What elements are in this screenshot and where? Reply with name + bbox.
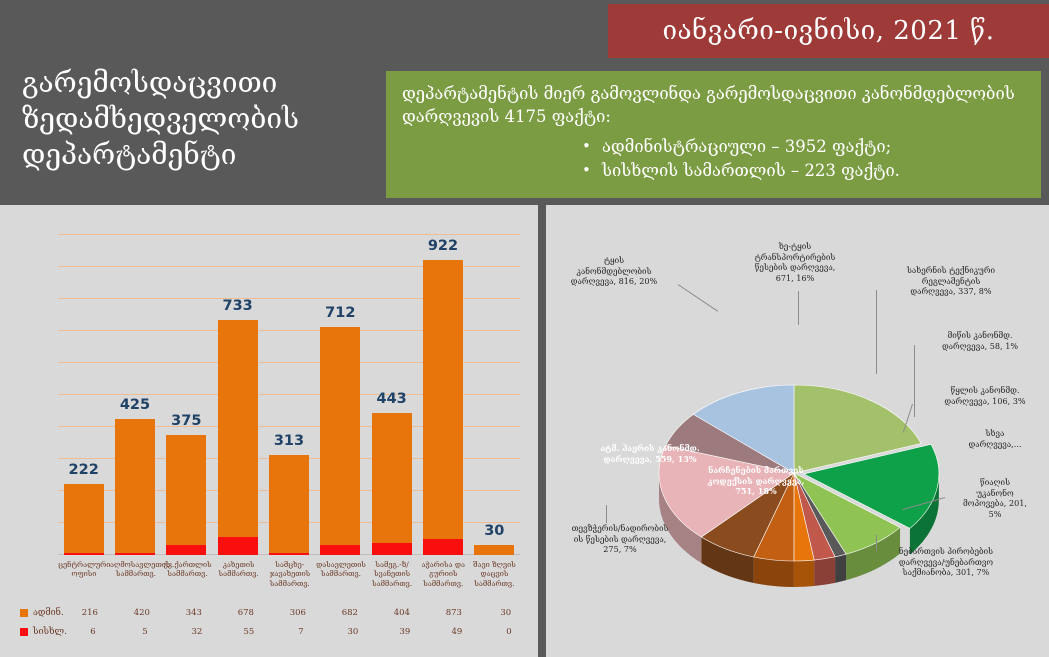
bar-segment-criminal[interactable] — [269, 553, 309, 555]
legend-value-cell: 678 — [220, 608, 272, 618]
pie-label-technical: სახერნის ტექნიკური რეგლამენტის დარღვევა,… — [876, 265, 1026, 297]
bar-segment-criminal[interactable] — [64, 553, 104, 555]
bar-total-label: 313 — [274, 433, 304, 449]
bar-column[interactable]: 375 — [166, 235, 206, 555]
legend-value-cell: 30 — [480, 608, 532, 618]
summary-bullet-administrative: ადმინისტრაციული – 3952 ფაქტი; — [402, 135, 1025, 160]
pie-slice-side — [754, 557, 794, 587]
summary-bullet-criminal: სისხლის სამართლის – 223 ფაქტი. — [402, 159, 1025, 184]
legend-value-cell: 420 — [116, 608, 168, 618]
legend-value-cell: 682 — [324, 608, 376, 618]
legend-row-criminal: სისხლ. 65325573039490 — [8, 622, 522, 641]
bar-segment-admin[interactable] — [218, 320, 258, 537]
bar-column[interactable]: 30 — [474, 235, 514, 555]
pie-label-waste: ნარჩენების მართვის კოდექსის დარღვევა, 75… — [686, 465, 826, 497]
pie-slice-side — [835, 554, 846, 583]
bar-column[interactable]: 712 — [320, 235, 360, 555]
category-axis-label: ქვ.ქართლის სამმართვ. — [162, 560, 213, 579]
category-axis-label: დასავლეთის სამმართვ. — [315, 560, 366, 579]
bar-segment-admin[interactable] — [115, 419, 155, 553]
bar-segment-admin[interactable] — [423, 260, 463, 539]
legend-key-criminal: სისხლ. — [8, 627, 67, 637]
pie-label-water: წყლის კანონმდ. დარღვევა, 106, 3% — [924, 385, 1046, 406]
pie-label-forest: ტყის კანონმდებლობის დარღვევა, 816, 20% — [550, 255, 678, 287]
bar-segment-admin[interactable] — [372, 413, 412, 542]
pie-chart-wrap: ტყის კანონმდებლობის დარღვევა, 816, 20% ხ… — [546, 205, 1049, 657]
bar-column[interactable]: 222 — [64, 235, 104, 555]
bar-total-label: 222 — [69, 462, 99, 478]
bar-segment-admin[interactable] — [166, 435, 206, 545]
legend-value-cell: 873 — [428, 608, 480, 618]
legend-value-cell: 343 — [168, 608, 220, 618]
bar-segment-criminal[interactable] — [115, 553, 155, 555]
legend-values-criminal: 65325573039490 — [67, 627, 535, 637]
category-axis-label: შავი ზღვის დაცვის სამმართვ. — [469, 560, 520, 588]
leader-line-permit — [876, 535, 877, 551]
bar-segment-criminal[interactable] — [423, 539, 463, 555]
bar-total-label: 443 — [376, 391, 406, 407]
pie-label-transport: ხე-ტყის ტრანსპორტირების წესების დარღვევა… — [732, 241, 858, 283]
category-axis-label: აჭარისა და გურიის სამმართვ. — [418, 560, 469, 588]
category-axis-label: აღმოსავლეთის სამმართვ. — [110, 560, 162, 579]
bar-total-label: 425 — [120, 397, 150, 413]
pie-label-land: მიწის კანონმდ. დარღვევა, 58, 1% — [916, 330, 1044, 351]
legend-key-admin: ადმინ. — [8, 608, 64, 618]
bar-column[interactable]: 733 — [218, 235, 258, 555]
bar-segment-admin[interactable] — [64, 484, 104, 553]
bar-column[interactable]: 922 — [423, 235, 463, 555]
bar-chart-bars: 22242537573331371244392230 — [58, 235, 520, 555]
legend-swatch-admin-icon — [20, 609, 28, 617]
header-band: იანვარი-ივნისი, 2021 წ. გარემოსდაცვითი ზ… — [0, 0, 1049, 205]
date-period-label: იანვარი-ივნისი, 2021 წ. — [662, 16, 994, 46]
pie-slice-side — [814, 557, 835, 586]
bar-segment-criminal[interactable] — [372, 543, 412, 555]
bar-total-label: 733 — [223, 298, 253, 314]
bar-segment-admin[interactable] — [269, 455, 309, 553]
legend-label-admin: ადმინ. — [33, 608, 64, 618]
bar-chart-plot-area: 22242537573331371244392230 — [58, 235, 520, 555]
leader-line-technical — [876, 290, 877, 374]
bar-column[interactable]: 313 — [269, 235, 309, 555]
pie-label-fishing: თევზჭერის/ნადირობის ის წესების დარღვევა,… — [546, 523, 694, 555]
leader-line-transport — [798, 291, 799, 325]
bar-column[interactable]: 443 — [372, 235, 412, 555]
page-title: გარემოსდაცვითი ზედამხედველობის დეპარტამე… — [22, 65, 372, 172]
bar-segment-admin[interactable] — [474, 545, 514, 555]
bar-column[interactable]: 425 — [115, 235, 155, 555]
legend-value-cell: 55 — [223, 627, 275, 637]
pie-chart-panel: ტყის კანონმდებლობის დარღვევა, 816, 20% ხ… — [546, 205, 1049, 657]
legend-value-cell: 32 — [171, 627, 223, 637]
legend-value-cell: 404 — [376, 608, 428, 618]
legend-values-admin: 21642034367830668240487330 — [64, 608, 532, 618]
pie-label-air: ატმ. ჰაერის კანონმდ. დარღვევა, 559, 13% — [584, 443, 716, 464]
legend-value-cell: 5 — [119, 627, 171, 637]
leader-line-land — [914, 345, 915, 417]
bar-segment-criminal[interactable] — [166, 545, 206, 555]
legend-value-cell: 30 — [327, 627, 379, 637]
bar-chart-panel: 22242537573331371244392230 ცენტრალური ოფ… — [0, 205, 538, 657]
category-axis-label: სამეგ.-ზ/სვანეთის სამმართვ. — [367, 560, 418, 588]
bar-total-label: 712 — [325, 305, 355, 321]
bar-total-label: 30 — [484, 523, 504, 539]
legend-value-cell: 7 — [275, 627, 327, 637]
summary-lead-text: დეპარტამენტის მიერ გამოვლინდა გარემოსდაც… — [402, 83, 1025, 129]
bar-segment-criminal[interactable] — [320, 545, 360, 555]
category-axis-label: სამცხე-ჯავახეთის სამმართვ. — [264, 560, 315, 588]
summary-box: დეპარტამენტის მიერ გამოვლინდა გარემოსდაც… — [386, 71, 1041, 198]
bar-total-label: 375 — [171, 413, 201, 429]
legend-label-criminal: სისხლ. — [33, 627, 67, 637]
bar-segment-admin[interactable] — [320, 327, 360, 545]
legend-row-admin: ადმინ. 21642034367830668240487330 — [8, 603, 522, 622]
category-axis-label: ცენტრალური ოფისი — [58, 560, 110, 579]
legend-swatch-criminal-icon — [20, 628, 28, 636]
pie-label-other: სხვა დარღვევა,... — [944, 428, 1046, 449]
leader-line-fishing — [606, 505, 607, 523]
date-period-banner: იანვარი-ივნისი, 2021 წ. — [608, 4, 1049, 58]
bar-chart-category-axis: ცენტრალური ოფისიაღმოსავლეთის სამმართვ.ქვ… — [58, 560, 520, 602]
legend-value-cell: 49 — [431, 627, 483, 637]
legend-value-cell: 216 — [64, 608, 116, 618]
category-axis-label: კახეთის სამმართვ. — [213, 560, 264, 579]
pie-slice-side — [794, 560, 814, 587]
pie-label-mining: წიაღის უკანონო მოპოვება, 201, 5% — [944, 477, 1046, 519]
summary-bullet-list: ადმინისტრაციული – 3952 ფაქტი; სისხლის სა… — [402, 135, 1025, 185]
legend-value-cell: 0 — [483, 627, 535, 637]
bar-segment-criminal[interactable] — [218, 537, 258, 555]
legend-value-cell: 6 — [67, 627, 119, 637]
legend-value-cell: 306 — [272, 608, 324, 618]
bar-chart-legend-table: ადმინ. 21642034367830668240487330 სისხლ.… — [8, 603, 522, 641]
bar-total-label: 922 — [428, 238, 458, 254]
legend-value-cell: 39 — [379, 627, 431, 637]
